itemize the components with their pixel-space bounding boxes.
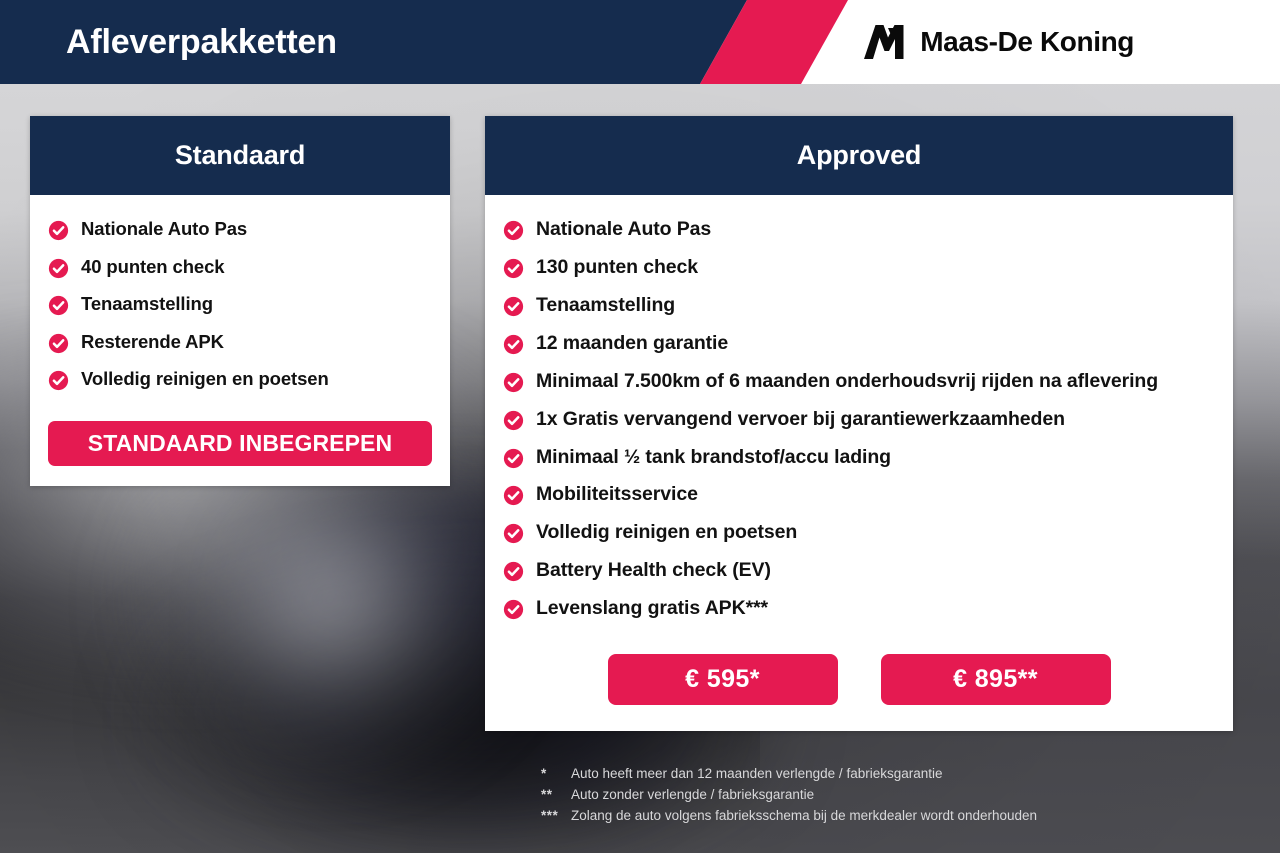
feature-item: 12 maanden garantie <box>503 331 1215 357</box>
card-header-approved: Approved <box>485 116 1233 195</box>
feature-item: Battery Health check (EV) <box>503 558 1215 584</box>
footnote-row: *** Zolang de auto volgens fabrieksschem… <box>541 806 1241 827</box>
feature-label: 130 punten check <box>536 255 698 281</box>
feature-item: Minimaal ½ tank brandstof/accu lading <box>503 445 1215 471</box>
feature-label: Mobiliteitsservice <box>536 482 698 508</box>
brand-name: Maas-De Koning <box>920 26 1134 58</box>
feature-label: Tenaamstelling <box>536 293 675 319</box>
check-circle-icon <box>48 220 69 241</box>
cta-wrapper-standaard: STANDAARD INBEGREPEN <box>48 405 432 466</box>
poster-canvas: Afleverpakketten Maas-De Koning Standaar… <box>0 0 1280 853</box>
check-circle-icon <box>503 448 524 469</box>
feature-item: 130 punten check <box>503 255 1215 281</box>
check-circle-icon <box>503 296 524 317</box>
feature-label: Levenslang gratis APK*** <box>536 596 768 622</box>
check-circle-icon <box>48 370 69 391</box>
footnote-marker: ** <box>541 785 571 806</box>
feature-item: Tenaamstelling <box>503 293 1215 319</box>
footnote-text: Zolang de auto volgens fabrieksschema bi… <box>571 806 1037 827</box>
maas-de-koning-m-logo-icon <box>862 24 906 60</box>
feature-label: 1x Gratis vervangend vervoer bij garanti… <box>536 407 1065 433</box>
check-circle-icon <box>503 220 524 241</box>
feature-label: Tenaamstelling <box>81 292 213 317</box>
check-circle-icon <box>503 599 524 620</box>
feature-list-standaard: Nationale Auto Pas 40 punten check Tenaa… <box>48 217 432 392</box>
check-circle-icon <box>503 372 524 393</box>
check-circle-icon <box>48 258 69 279</box>
package-card-approved: Approved Nationale Auto Pas 130 punten c… <box>485 116 1233 731</box>
feature-item: Tenaamstelling <box>48 292 432 317</box>
feature-label: Minimaal ½ tank brandstof/accu lading <box>536 445 891 471</box>
feature-list-approved: Nationale Auto Pas 130 punten check Tena… <box>503 217 1215 622</box>
footnote-row: ** Auto zonder verlengde / fabrieksgaran… <box>541 785 1241 806</box>
feature-item: Nationale Auto Pas <box>503 217 1215 243</box>
standaard-inbegrepen-button[interactable]: STANDAARD INBEGREPEN <box>48 421 432 466</box>
price-button-895[interactable]: € 895** <box>881 654 1111 705</box>
check-circle-icon <box>503 523 524 544</box>
feature-label: 40 punten check <box>81 255 224 280</box>
feature-label: Volledig reinigen en poetsen <box>536 520 797 546</box>
feature-label: Volledig reinigen en poetsen <box>81 367 329 392</box>
feature-item: Minimaal 7.500km of 6 maanden onderhouds… <box>503 369 1215 395</box>
feature-item: Volledig reinigen en poetsen <box>503 520 1215 546</box>
feature-item: Resterende APK <box>48 330 432 355</box>
card-body-standaard: Nationale Auto Pas 40 punten check Tenaa… <box>30 195 450 486</box>
page-title: Afleverpakketten <box>66 0 337 84</box>
feature-label: Nationale Auto Pas <box>536 217 711 243</box>
footnote-text: Auto zonder verlengde / fabrieksgarantie <box>571 785 814 806</box>
check-circle-icon <box>48 295 69 316</box>
footnote-marker: *** <box>541 806 571 827</box>
check-circle-icon <box>503 410 524 431</box>
feature-item: 1x Gratis vervangend vervoer bij garanti… <box>503 407 1215 433</box>
check-circle-icon <box>503 258 524 279</box>
page-header: Afleverpakketten Maas-De Koning <box>0 0 1280 84</box>
feature-label: Resterende APK <box>81 330 224 355</box>
feature-item: 40 punten check <box>48 255 432 280</box>
feature-item: Levenslang gratis APK*** <box>503 596 1215 622</box>
feature-item: Mobiliteitsservice <box>503 482 1215 508</box>
footnote-marker: * <box>541 764 571 785</box>
feature-item: Nationale Auto Pas <box>48 217 432 242</box>
check-circle-icon <box>503 485 524 506</box>
footnote-row: * Auto heeft meer dan 12 maanden verleng… <box>541 764 1241 785</box>
card-header-standaard: Standaard <box>30 116 450 195</box>
feature-label: 12 maanden garantie <box>536 331 728 357</box>
card-body-approved: Nationale Auto Pas 130 punten check Tena… <box>485 195 1233 731</box>
feature-label: Nationale Auto Pas <box>81 217 247 242</box>
check-circle-icon <box>48 333 69 354</box>
feature-label: Battery Health check (EV) <box>536 558 771 584</box>
feature-label: Minimaal 7.500km of 6 maanden onderhouds… <box>536 369 1158 395</box>
price-button-row: € 595* € 895** <box>503 634 1215 711</box>
footnote-text: Auto heeft meer dan 12 maanden verlengde… <box>571 764 943 785</box>
package-card-standaard: Standaard Nationale Auto Pas 40 punten c… <box>30 116 450 486</box>
price-button-595[interactable]: € 595* <box>608 654 838 705</box>
check-circle-icon <box>503 561 524 582</box>
brand-logo: Maas-De Koning <box>862 0 1134 84</box>
feature-item: Volledig reinigen en poetsen <box>48 367 432 392</box>
check-circle-icon <box>503 334 524 355</box>
card-title-standaard: Standaard <box>175 140 305 171</box>
card-title-approved: Approved <box>797 140 921 171</box>
footnote-list: * Auto heeft meer dan 12 maanden verleng… <box>541 764 1241 827</box>
